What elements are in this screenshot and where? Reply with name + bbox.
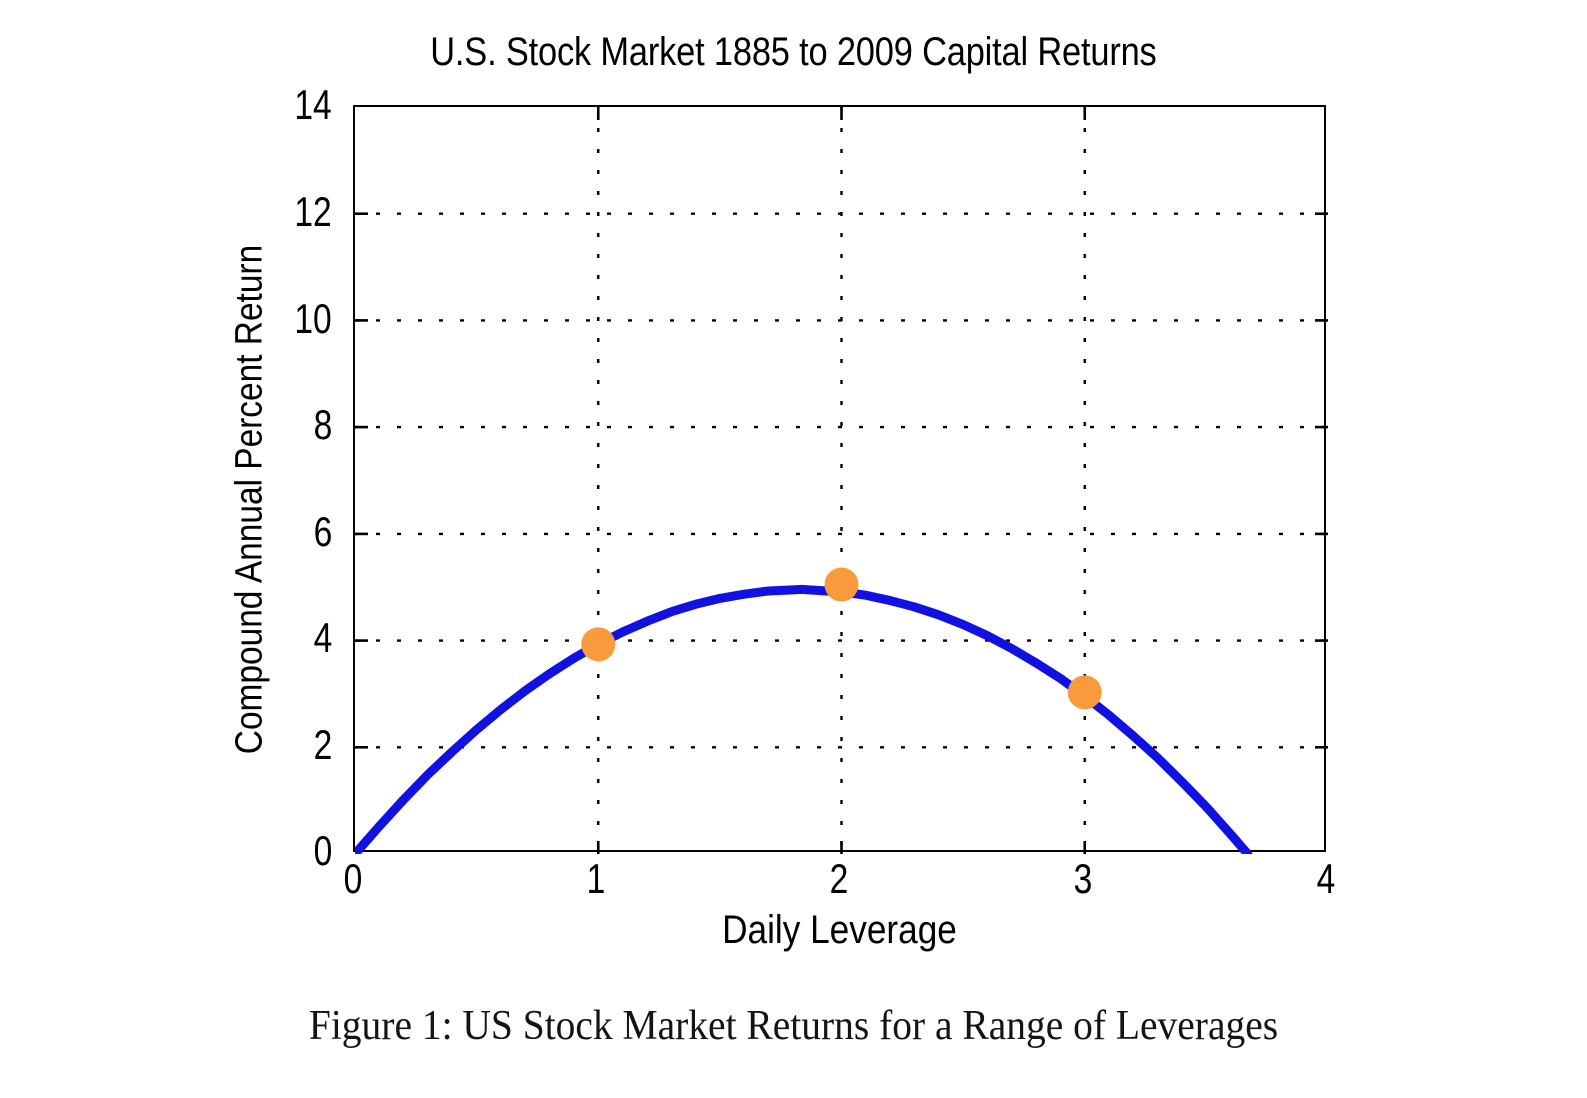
x-tick-3: 3 bbox=[1059, 858, 1107, 900]
leverage-marker-1 bbox=[581, 627, 615, 661]
chart-title: U.S. Stock Market 1885 to 2009 Capital R… bbox=[111, 30, 1476, 75]
vertical-gridlines bbox=[598, 107, 1085, 854]
plot-area bbox=[353, 105, 1326, 852]
y-tick-6: 6 bbox=[313, 511, 332, 553]
figure-caption: Figure 1: US Stock Market Returns for a … bbox=[48, 1002, 1540, 1050]
y-tick-8: 8 bbox=[313, 404, 332, 446]
figure-root: U.S. Stock Market 1885 to 2009 Capital R… bbox=[0, 0, 1587, 1098]
leverage-marker-2 bbox=[825, 568, 859, 602]
y-axis-tick-labels: 14 12 10 8 6 4 2 0 bbox=[270, 105, 332, 852]
x-tick-4: 4 bbox=[1302, 858, 1350, 900]
x-tick-2: 2 bbox=[815, 858, 863, 900]
y-axis-label: Compound Annual Percent Return bbox=[229, 174, 272, 825]
x-axis-label: Daily Leverage bbox=[411, 908, 1267, 953]
x-tick-0: 0 bbox=[329, 858, 377, 900]
axis-tick-marks bbox=[355, 107, 1328, 854]
y-tick-14: 14 bbox=[295, 84, 332, 126]
y-tick-4: 4 bbox=[313, 617, 332, 659]
y-tick-2: 2 bbox=[313, 724, 332, 766]
return-curve-line bbox=[355, 589, 1248, 854]
plot-svg bbox=[355, 107, 1328, 854]
y-tick-10: 10 bbox=[295, 298, 332, 340]
x-axis-tick-labels: 0 1 2 3 4 bbox=[353, 858, 1326, 914]
horizontal-gridlines bbox=[355, 214, 1328, 748]
x-tick-1: 1 bbox=[572, 858, 620, 900]
leverage-marker-group bbox=[581, 568, 1102, 710]
leverage-marker-3 bbox=[1068, 675, 1102, 709]
y-tick-12: 12 bbox=[295, 191, 332, 233]
